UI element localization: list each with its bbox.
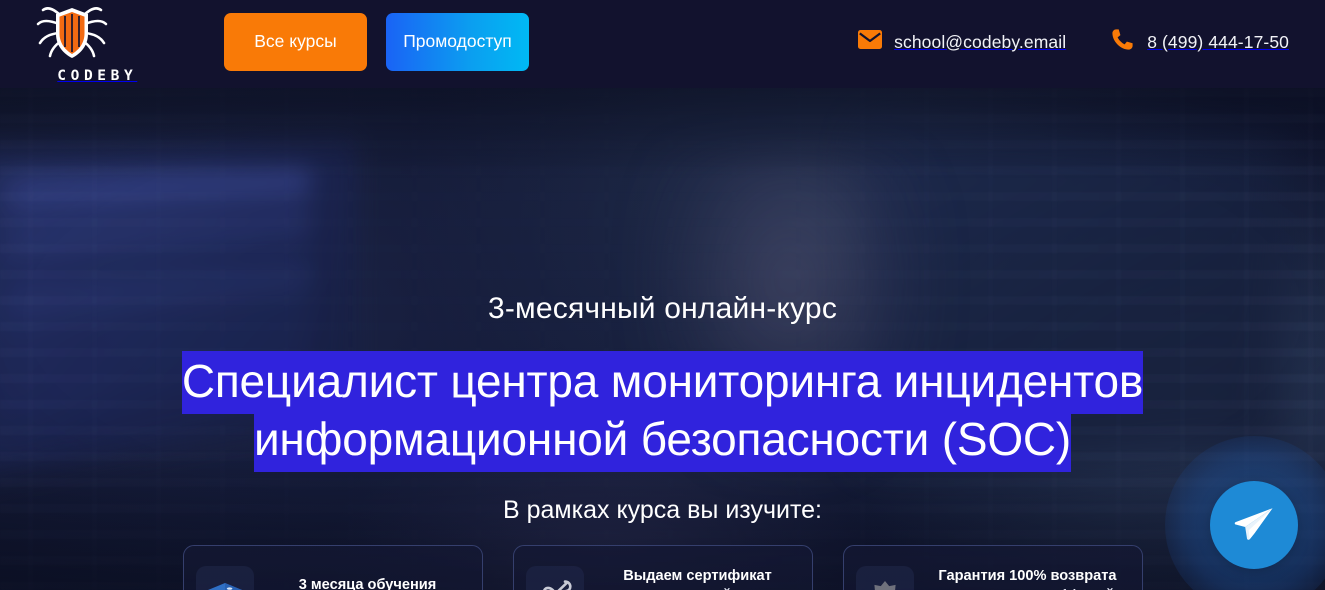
telegram-icon — [1232, 505, 1276, 546]
logo-wordmark: CODEBY — [35, 68, 155, 84]
page-title-line-1: Специалист центра мониторинга инцидентов — [182, 351, 1143, 414]
telegram-button[interactable] — [1210, 481, 1298, 569]
feature-card-body: 3 месяца обучения с видеоуроками и задан… — [268, 576, 468, 590]
feature-card-text: после успешной сдачи экзамена — [598, 586, 798, 590]
graduation-cap-icon — [196, 566, 254, 590]
email-text: school@codeby.email — [894, 32, 1066, 53]
feature-card-refund: $ Гарантия 100% возврата средств в первы… — [843, 545, 1143, 590]
feature-card-body: Гарантия 100% возврата средств в первые … — [928, 567, 1128, 590]
hero-eyebrow: 3-месячный онлайн-курс — [0, 292, 1325, 326]
codeby-spider-shield-logo — [35, 4, 155, 67]
phone-icon — [1110, 27, 1135, 57]
feature-cards: 3 месяца обучения с видеоуроками и задан… — [0, 545, 1325, 590]
promo-access-button[interactable]: Промодоступ — [386, 13, 529, 71]
header-contacts: school@codeby.email 8 (499) 444-17-50 — [858, 27, 1289, 57]
feature-card-body: Выдаем сертификат после успешной сдачи э… — [598, 567, 798, 590]
phone-contact[interactable]: 8 (499) 444-17-50 — [1110, 27, 1289, 57]
email-contact[interactable]: school@codeby.email — [858, 30, 1066, 54]
hero-section: 3-месячный онлайн-курс Специалист центра… — [0, 88, 1325, 590]
certificate-icon — [526, 566, 584, 590]
header-nav: Все курсы Промодоступ — [224, 13, 529, 71]
feature-card-title: Выдаем сертификат — [598, 567, 798, 586]
all-courses-button[interactable]: Все курсы — [224, 13, 367, 71]
money-back-icon: $ — [856, 566, 914, 590]
site-header: CODEBY Все курсы Промодоступ school@code… — [0, 0, 1325, 88]
landing-page: CODEBY Все курсы Промодоступ school@code… — [0, 0, 1325, 590]
hero-content: 3-месячный онлайн-курс Специалист центра… — [0, 88, 1325, 590]
feature-card-certificate: Выдаем сертификат после успешной сдачи э… — [513, 545, 813, 590]
feature-card-title: 3 месяца обучения — [268, 576, 468, 590]
logo-link[interactable]: CODEBY — [35, 4, 155, 84]
page-title-line-2: информационной безопасности (SOC) — [254, 409, 1071, 472]
feature-card-text: средств в первые 14 дней, если курс не п… — [928, 586, 1128, 590]
feature-card-title: Гарантия 100% возврата — [928, 567, 1128, 586]
hero-subtitle: В рамках курса вы изучите: — [0, 496, 1325, 525]
phone-text: 8 (499) 444-17-50 — [1147, 32, 1289, 53]
page-title: Специалист центра мониторинга инцидентов… — [0, 352, 1325, 468]
feature-card-duration: 3 месяца обучения с видеоуроками и задан… — [183, 545, 483, 590]
envelope-icon — [858, 30, 882, 54]
